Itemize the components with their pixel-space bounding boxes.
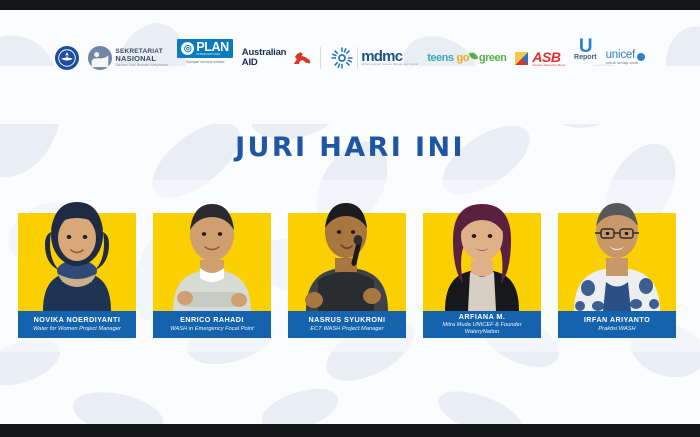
unicef-logo: unicef untuk setiap anak <box>606 39 645 77</box>
judge-portrait-illustration <box>153 188 271 311</box>
plan-logo-badge: ◎ PLAN INTERNATIONAL <box>177 39 232 58</box>
judge-name-bar: NASRUS SYUKRONI ECT WASH Project Manager <box>288 311 406 338</box>
judge-photo <box>558 213 676 311</box>
sekretariat-logo-text: SEKRETARIAT NASIONAL Sanitasi Total Berb… <box>115 49 168 67</box>
judge-name-bar: ENRICO RAHADI WASH in Emergency Focal Po… <box>153 311 271 338</box>
ureport-u-icon: U <box>579 39 592 54</box>
judge-card: NASRUS SYUKRONI ECT WASH Project Manager <box>288 188 406 338</box>
kangaroo-icon <box>291 52 311 65</box>
judge-card: NOVIKA NOERDIYANTI Water for Women Proje… <box>18 188 136 338</box>
unicef-subtext: untuk setiap anak <box>606 61 645 66</box>
leaf-icon <box>469 51 478 61</box>
australian-aid-logo: Australian AID <box>242 39 311 77</box>
judge-portrait-illustration <box>288 188 406 311</box>
logo-divider <box>320 47 321 69</box>
judge-portrait-illustration <box>423 188 541 311</box>
judge-name: ARFIANA M. <box>459 313 506 321</box>
mdmc-wordmark: mdmc <box>361 49 418 64</box>
page-title: JURI HARI INI <box>0 132 700 163</box>
judge-portrait-illustration <box>18 188 136 311</box>
judge-photo <box>288 213 406 311</box>
ausaid-line2: AID <box>242 58 286 68</box>
sekretariat-line3: Sanitasi Total Berbasis Masyarakat <box>115 64 168 67</box>
plan-wordmark: PLAN <box>196 41 228 54</box>
plan-subtext: INTERNATIONAL <box>196 54 228 57</box>
judge-role: Mitra Muda UNICEF & Founder WateryNation <box>425 322 539 336</box>
judge-photo <box>18 213 136 311</box>
partner-logo-bar: SEKRETARIAT NASIONAL Sanitasi Total Berb… <box>0 36 700 80</box>
green-wordmark: green <box>479 52 506 64</box>
teens-go-green-logo: teens go green <box>427 39 506 77</box>
sekretariat-line2: NASIONAL <box>115 55 168 63</box>
kemendikbud-logo <box>55 39 79 77</box>
judge-name: ENRICO RAHADI <box>180 316 244 324</box>
mdmc-subtext: Muhammadiyah Disaster Management Center <box>361 64 418 67</box>
asb-flag-icon <box>515 52 528 65</box>
judge-name-bar: ARFIANA M. Mitra Muda UNICEF & Founder W… <box>423 311 541 338</box>
judge-card: ARFIANA M. Mitra Muda UNICEF & Founder W… <box>423 188 541 338</box>
judge-name: NOVIKA NOERDIYANTI <box>34 316 121 324</box>
judges-list: NOVIKA NOERDIYANTI Water for Women Proje… <box>18 188 682 338</box>
judge-role: WASH in Emergency Focal Point <box>170 326 253 333</box>
ausaid-wordmark: Australian AID <box>242 48 286 67</box>
teens-wordmark: teens <box>427 52 453 64</box>
mdmc-logo: mdmc Muhammadiyah Disaster Management Ce… <box>330 39 418 77</box>
judge-name-bar: NOVIKA NOERDIYANTI Water for Women Proje… <box>18 311 136 338</box>
asb-subtext: Arbeiter-Samariter-Bund <box>532 64 565 67</box>
asb-wordmark: ASB <box>532 50 565 64</box>
letterbox-top <box>0 0 700 10</box>
judge-portrait-illustration <box>558 188 676 311</box>
slide-root: SEKRETARIAT NASIONAL Sanitasi Total Berb… <box>0 0 700 437</box>
plan-globe-icon: ◎ <box>181 42 194 55</box>
unicef-emblem-icon <box>637 53 645 61</box>
u-report-logo: U Report <box>574 39 597 77</box>
plan-tagline: Sampai semua setara <box>186 59 225 64</box>
asb-logo: ASB Arbeiter-Samariter-Bund <box>515 39 565 77</box>
judge-name: IRFAN ARIYANTO <box>584 316 650 324</box>
judge-card: IRFAN ARIYANTO Praktisi WASH <box>558 188 676 338</box>
ureport-wordmark: Report <box>574 54 597 61</box>
sekretariat-emblem-icon <box>88 46 112 70</box>
kemendikbud-emblem-icon <box>55 46 79 70</box>
judge-role: ECT WASH Project Manager <box>310 326 383 333</box>
sekretariat-nasional-logo: SEKRETARIAT NASIONAL Sanitasi Total Berb… <box>88 39 168 77</box>
mdmc-sun-icon <box>330 46 354 70</box>
judge-name: NASRUS SYUKRONI <box>308 316 385 324</box>
judge-card: ENRICO RAHADI WASH in Emergency Focal Po… <box>153 188 271 338</box>
judge-role: Praktisi WASH <box>598 326 635 333</box>
go-wordmark: go <box>456 52 468 64</box>
judge-role: Water for Women Project Manager <box>33 326 121 333</box>
plan-international-logo: ◎ PLAN INTERNATIONAL Sampai semua setara <box>177 39 232 77</box>
judge-photo <box>153 213 271 311</box>
letterbox-bottom <box>0 424 700 437</box>
logo-divider <box>357 47 358 69</box>
judge-photo <box>423 213 541 311</box>
slide-stage: SEKRETARIAT NASIONAL Sanitasi Total Berb… <box>0 10 700 424</box>
judge-name-bar: IRFAN ARIYANTO Praktisi WASH <box>558 311 676 338</box>
